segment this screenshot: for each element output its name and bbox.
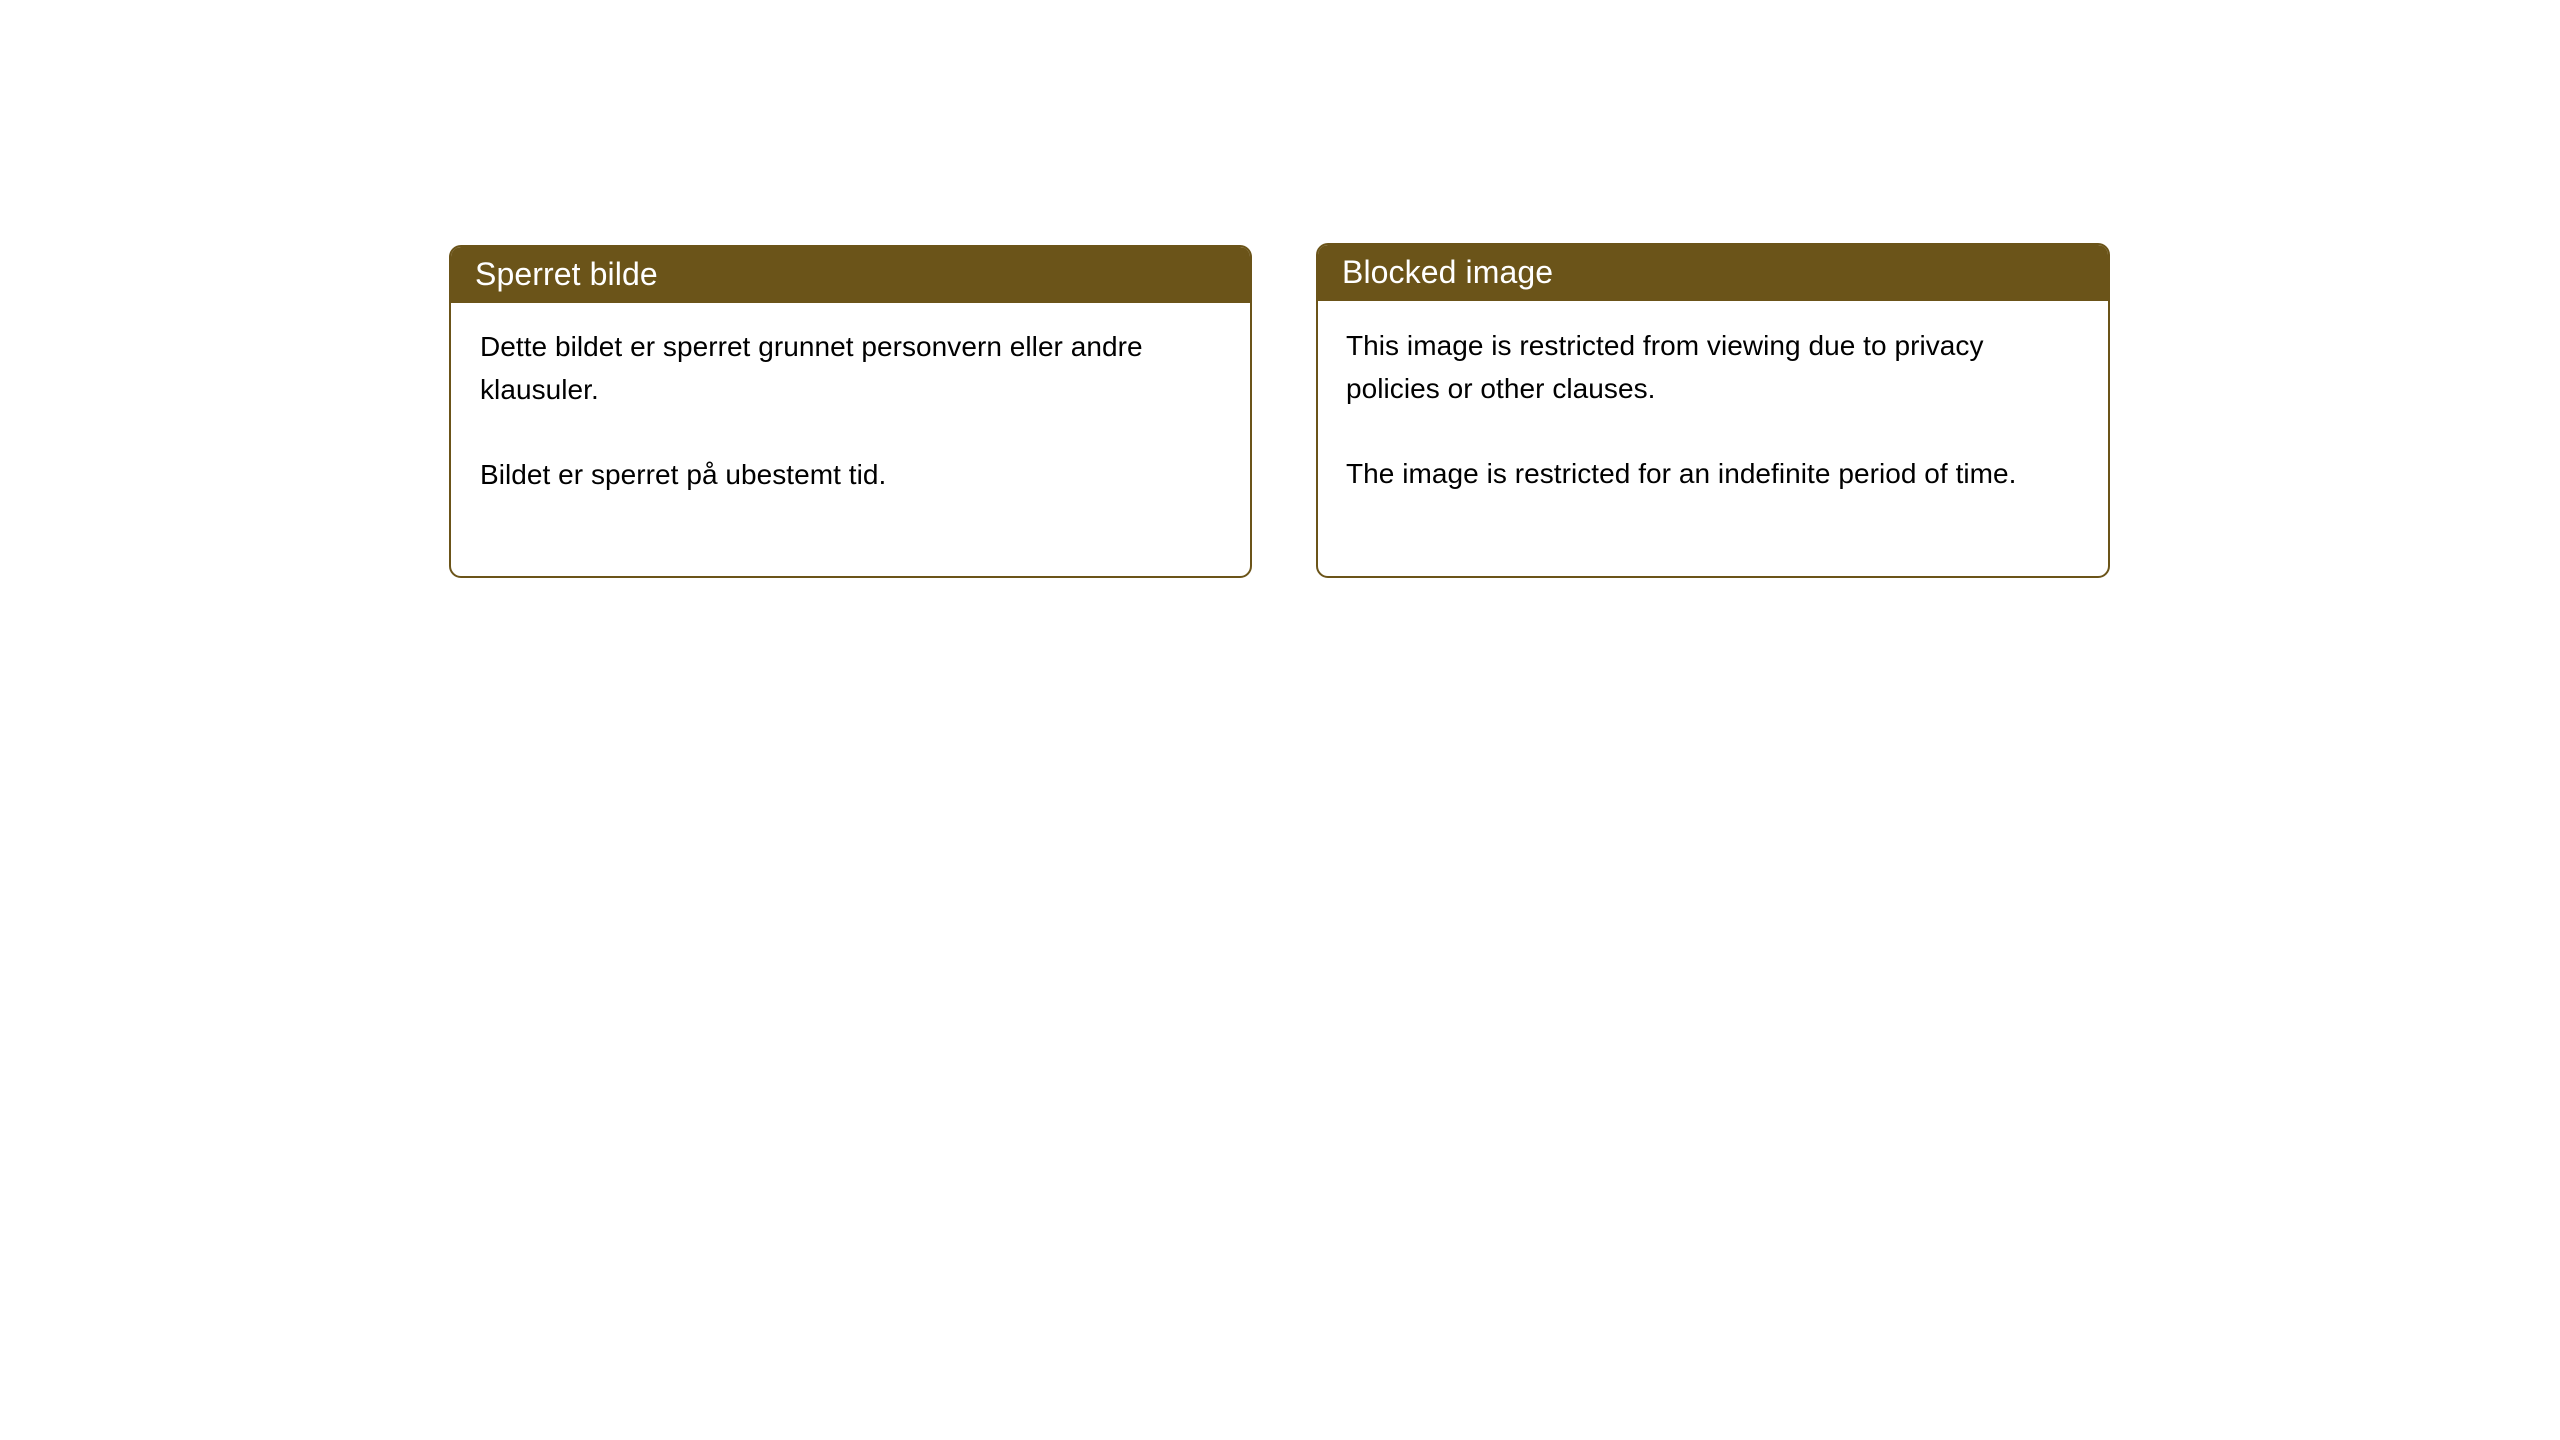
- panel-title-english: Blocked image: [1342, 256, 1553, 288]
- panel-body-english: This image is restricted from viewing du…: [1318, 301, 2108, 495]
- notice-paragraph-duration-english: The image is restricted for an indefinit…: [1346, 452, 2084, 495]
- page-canvas: Sperret bilde Dette bildet er sperret gr…: [0, 0, 2560, 1440]
- notice-paragraph-privacy-english: This image is restricted from viewing du…: [1346, 324, 2084, 410]
- blocked-image-notice-norwegian: Sperret bilde Dette bildet er sperret gr…: [449, 245, 1252, 578]
- blocked-image-notice-english: Blocked image This image is restricted f…: [1316, 243, 2110, 578]
- notice-paragraph-duration-norwegian: Bildet er sperret på ubestemt tid.: [480, 453, 1226, 496]
- panel-header-english: Blocked image: [1316, 243, 2110, 301]
- notice-paragraph-privacy-norwegian: Dette bildet er sperret grunnet personve…: [480, 325, 1226, 411]
- panel-body-norwegian: Dette bildet er sperret grunnet personve…: [451, 303, 1250, 496]
- panel-header-norwegian: Sperret bilde: [449, 245, 1252, 303]
- panel-title-norwegian: Sperret bilde: [475, 258, 658, 290]
